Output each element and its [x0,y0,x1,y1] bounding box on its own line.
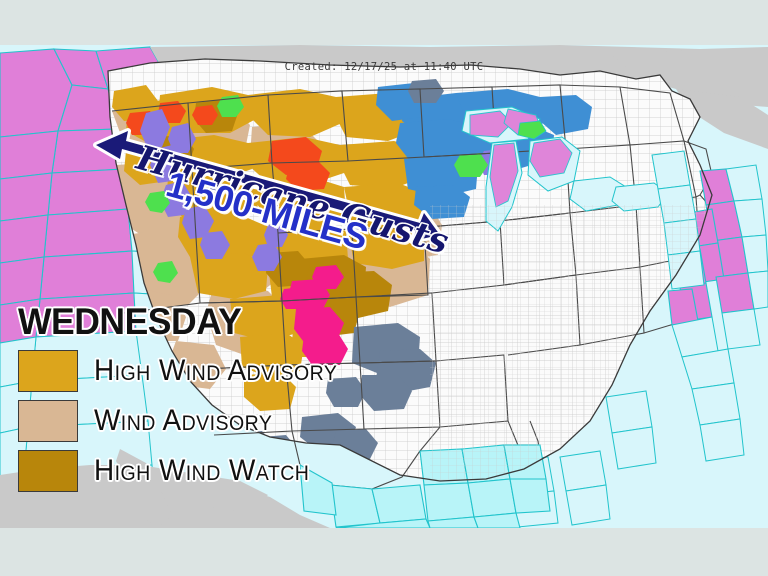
legend-row[interactable]: Wind Advisory [18,399,356,443]
legend-label-high-wind-watch: High Wind Watch [94,456,309,486]
legend-label-wind-advisory: Wind Advisory [94,406,272,436]
legend-label-high-wind-advisory: High Wind Advisory [94,356,337,386]
letterbox-bottom [0,528,768,576]
legend-swatch-wind-advisory [18,400,78,442]
legend-row[interactable]: High Wind Watch [18,449,356,493]
hazard-legend: WEDNESDAY High Wind Advisory Wind Adviso… [18,303,356,499]
created-timestamp: Created: 12/17/25 at 11:40 UTC [0,61,768,73]
legend-day-title: WEDNESDAY [18,303,342,340]
letterbox-top [0,0,768,45]
legend-swatch-high-wind-watch [18,450,78,492]
legend-swatch-high-wind-advisory [18,350,78,392]
weather-map-graphic: Created: 12/17/25 at 11:40 UTC Hurricane… [0,0,768,576]
legend-row[interactable]: High Wind Advisory [18,349,356,393]
